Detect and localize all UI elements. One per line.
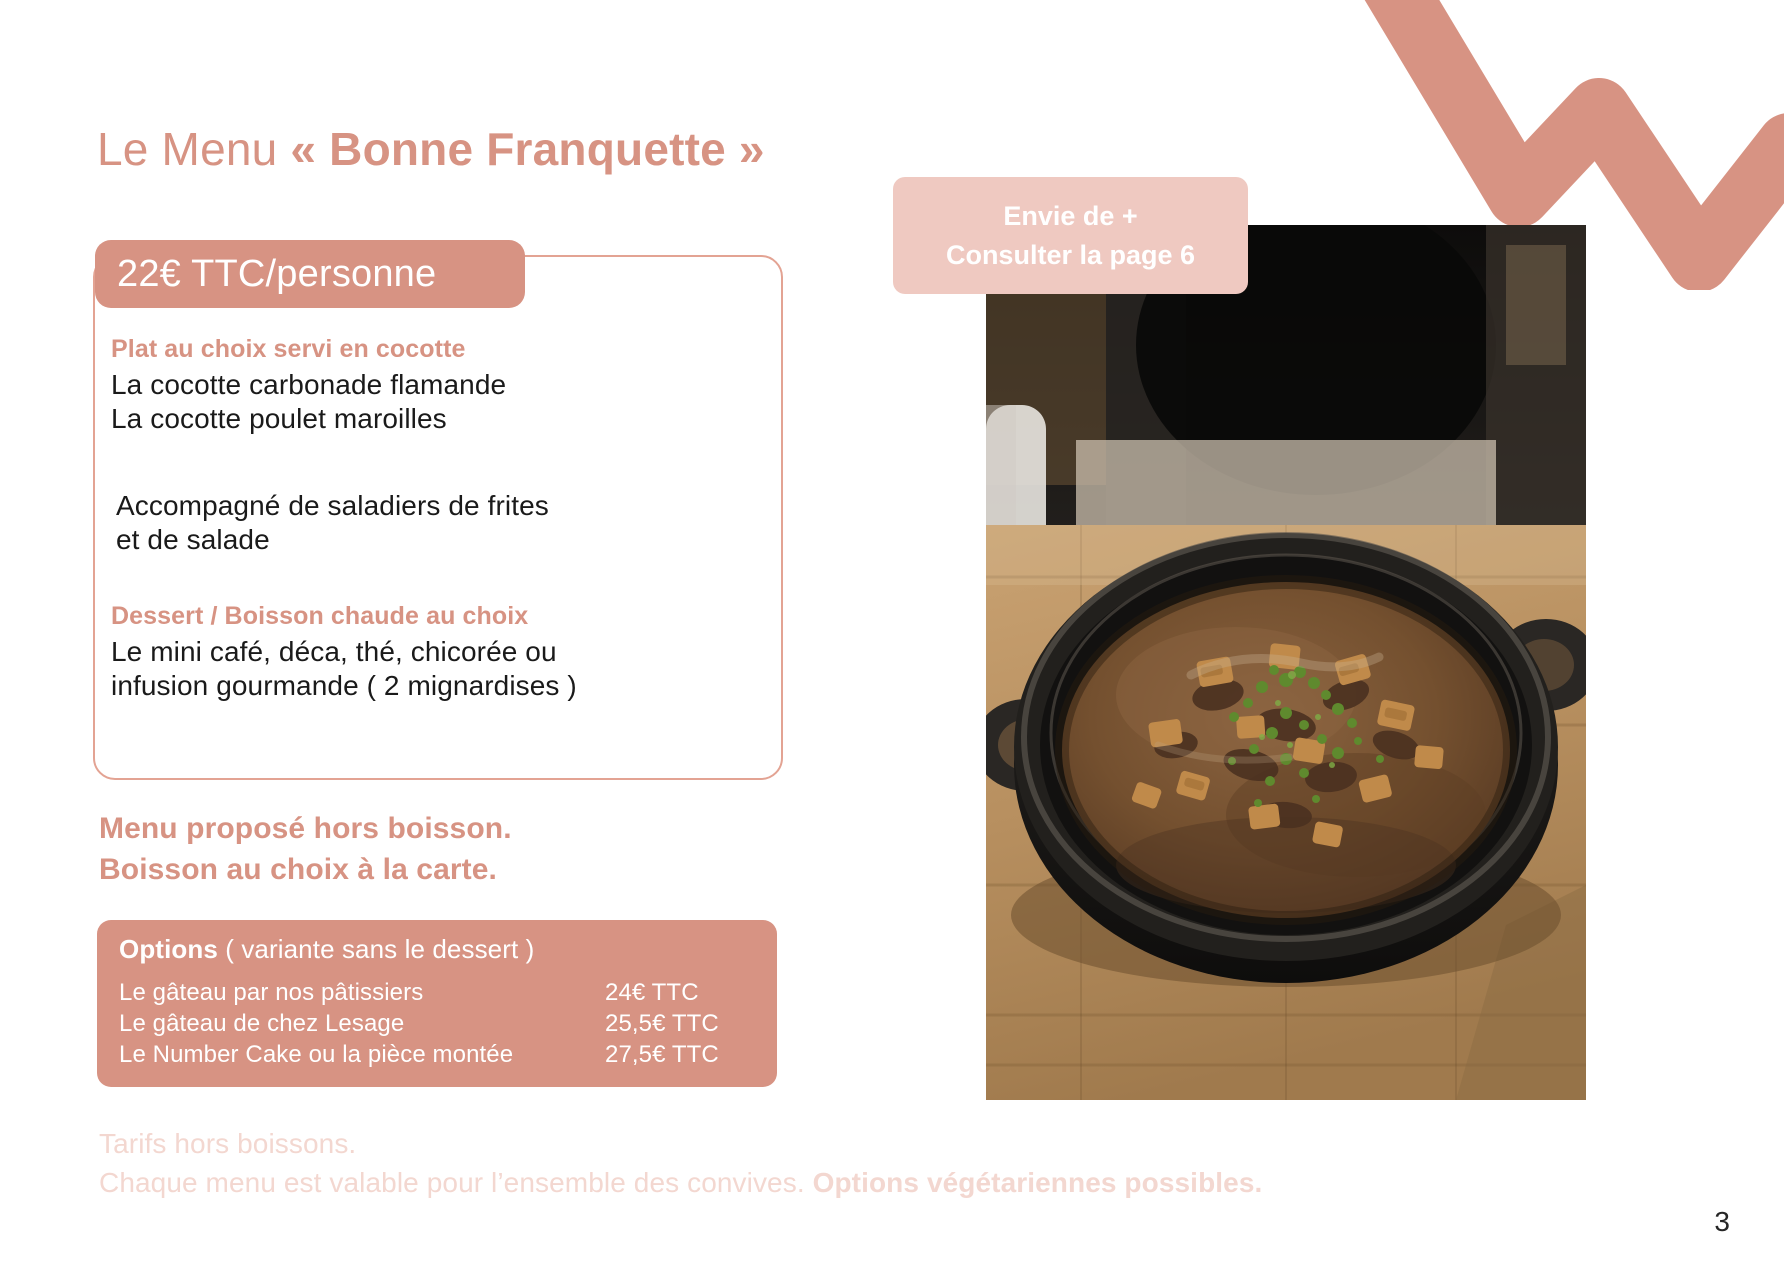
options-title-bold: Options [119,934,218,964]
footer-line-2-bold: Options végétariennes possibles. [813,1167,1263,1198]
footer-notes: Tarifs hors boissons. Chaque menu est va… [99,1125,1262,1202]
cocotte-photo [986,225,1586,1100]
price-pill-label: 22€ TTC/personne [117,253,436,296]
menu-line-accompagnement-2: et de salade [111,523,771,557]
menu-line-plat-2: La cocotte poulet maroilles [111,402,771,436]
footer-line-1: Tarifs hors boissons. [99,1125,1262,1164]
page-number: 3 [1714,1206,1730,1238]
callout-badge-line-2: Consulter la page 6 [946,236,1195,274]
option-name: Le gâteau de chez Lesage [119,1008,404,1039]
table-row: Le Number Cake ou la pièce montée 27,5€ … [119,1039,755,1070]
options-title: Options ( variante sans le dessert ) [119,934,755,965]
menu-card-content: Plat au choix servi en cocotte La cocott… [111,335,771,704]
spacer-2 [111,558,771,602]
page-title-light: Le Menu [97,123,290,175]
option-price: 27,5€ TTC [605,1039,755,1070]
callout-badge-line-1: Envie de + [1003,197,1137,235]
page-title: Le Menu « Bonne Franquette » [97,122,765,176]
option-price: 24€ TTC [605,977,755,1008]
callout-badge[interactable]: Envie de + Consulter la page 6 [893,177,1248,294]
option-name: Le Number Cake ou la pièce montée [119,1039,513,1070]
price-pill: 22€ TTC/personne [95,240,525,308]
menu-line-dessert-1: Le mini café, déca, thé, chicorée ou [111,635,771,669]
section-heading-dessert: Dessert / Boisson chaude au choix [111,602,771,631]
options-title-rest: ( variante sans le dessert ) [218,934,534,964]
footer-line-2-normal: Chaque menu est valable pour l’ensemble … [99,1167,813,1198]
option-price: 25,5€ TTC [605,1008,755,1039]
table-row: Le gâteau par nos pâtissiers 24€ TTC [119,977,755,1008]
menu-note-line-1: Menu proposé hors boisson. [99,808,512,849]
spacer-1 [111,437,771,489]
page-title-bold: « Bonne Franquette » [290,123,764,175]
menu-line-accompagnement-1: Accompagné de saladiers de frites [111,489,771,523]
menu-line-dessert-2: infusion gourmande ( 2 mignardises ) [111,669,771,703]
section-heading-plat: Plat au choix servi en cocotte [111,335,771,364]
option-name: Le gâteau par nos pâtissiers [119,977,423,1008]
options-box: Options ( variante sans le dessert ) Le … [97,920,777,1087]
menu-line-plat-1: La cocotte carbonade flamande [111,368,771,402]
menu-note-line-2: Boisson au choix à la carte. [99,849,512,890]
footer-line-2: Chaque menu est valable pour l’ensemble … [99,1164,1262,1203]
menu-note: Menu proposé hors boisson. Boisson au ch… [99,808,512,891]
slide-page: Le Menu « Bonne Franquette » 22€ TTC/per… [0,0,1784,1266]
table-row: Le gâteau de chez Lesage 25,5€ TTC [119,1008,755,1039]
